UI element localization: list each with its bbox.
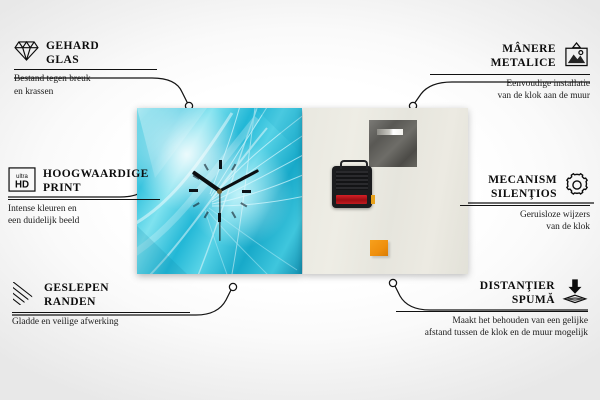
ultra-hd-icon-bottom: HD bbox=[15, 179, 29, 190]
ultra-hd-icon: ultra HD bbox=[8, 167, 36, 197]
callout-hoogwaardige-print: ultra HD HOOGWAARDIGE PRINT Intense kleu… bbox=[8, 167, 178, 228]
callout-rule bbox=[460, 205, 590, 206]
product-photo bbox=[137, 108, 468, 274]
callout-title-line2: SPUMĂ bbox=[512, 294, 555, 306]
foam-spacer bbox=[370, 240, 388, 256]
clock-back-panel bbox=[303, 108, 468, 274]
callout-title-line1: HOOGWAARDIGE bbox=[43, 168, 149, 180]
endpoint-geslepen-randen bbox=[229, 283, 236, 290]
callout-description: Intense kleuren en een duidelijk beeld bbox=[8, 203, 178, 228]
callout-description: Geruisloze wijzers van de klok bbox=[460, 209, 590, 234]
callout-desc-line1: Intense kleuren en bbox=[8, 204, 77, 214]
callout-header: MÂNERE METALICE bbox=[430, 42, 590, 72]
battery-terminal bbox=[371, 195, 375, 204]
callout-desc-line2: en krassen bbox=[14, 87, 53, 97]
callout-rule bbox=[430, 74, 590, 75]
callout-geslepen-randen: GESLEPEN RANDEN Gladde en veilige afwerk… bbox=[12, 282, 202, 328]
callout-title-line1: DISTANŢIER bbox=[480, 280, 555, 292]
clock-second-hand bbox=[219, 191, 220, 241]
callout-title-line2: PRINT bbox=[43, 182, 81, 194]
callout-description: Bestand tegen breuk en krassen bbox=[14, 73, 174, 98]
metal-hanger bbox=[369, 120, 417, 167]
callout-title-line2: SILENŢIOS bbox=[491, 188, 557, 200]
movement-grille bbox=[336, 171, 368, 190]
callout-desc-line1: Bestand tegen breuk bbox=[14, 74, 91, 84]
callout-title-line1: MECANISM bbox=[488, 174, 557, 186]
callout-desc-line2: van de klok bbox=[546, 222, 590, 232]
callout-title-line2: RANDEN bbox=[44, 296, 96, 308]
callout-header: MECANISM SILENŢIOS bbox=[460, 172, 590, 203]
hanging-picture-icon bbox=[563, 42, 590, 72]
callout-desc-line2: van de klok aan de muur bbox=[498, 91, 590, 101]
callout-header: DISTANŢIER SPUMĂ bbox=[396, 278, 588, 309]
hanger-slot bbox=[377, 129, 403, 135]
callout-header: ultra HD HOOGWAARDIGE PRINT bbox=[8, 167, 178, 197]
callout-description: Eenvoudige installatie van de klok aan d… bbox=[430, 78, 590, 103]
diamond-icon bbox=[14, 40, 39, 67]
movement-bracket bbox=[340, 160, 368, 169]
gear-icon bbox=[564, 172, 590, 203]
callout-desc-line2: een duidelijk beeld bbox=[8, 216, 79, 226]
callout-description: Maakt het behouden van een gelijke afsta… bbox=[396, 315, 588, 340]
clock-center-pin bbox=[217, 189, 222, 194]
callout-desc-line1: Geruisloze wijzers bbox=[520, 210, 590, 220]
down-arrow-pad-icon bbox=[562, 278, 588, 309]
callout-desc-line1: Eenvoudige installatie bbox=[506, 79, 590, 89]
callout-description: Gladde en veilige afwerking bbox=[12, 316, 202, 328]
callout-header: GEHARD GLAS bbox=[14, 40, 174, 67]
callout-title-line2: METALICE bbox=[491, 57, 556, 69]
callout-desc-line2: afstand tussen de klok en de muur mogeli… bbox=[425, 328, 588, 338]
battery bbox=[336, 195, 367, 204]
callout-mecanism-silentios: MECANISM SILENŢIOS Geruisloze wijzers va… bbox=[460, 172, 590, 234]
callout-rule bbox=[14, 69, 157, 70]
callout-title-line1: GESLEPEN bbox=[44, 282, 109, 294]
infographic-canvas: GEHARD GLAS Bestand tegen breuk en krass… bbox=[0, 0, 600, 400]
callout-desc-line1: Gladde en veilige afwerking bbox=[12, 317, 118, 327]
callout-desc-line1: Maakt het behouden van een gelijke bbox=[452, 316, 588, 326]
callout-manere-metalice: MÂNERE METALICE Eenvoudige installatie v… bbox=[430, 42, 590, 103]
quartz-movement bbox=[332, 166, 372, 208]
callout-rule bbox=[12, 312, 190, 313]
callout-title-line1: MÂNERE bbox=[502, 43, 556, 55]
diagonal-lines-icon bbox=[12, 282, 37, 310]
callout-header: GESLEPEN RANDEN bbox=[12, 282, 202, 310]
callout-title-line1: GEHARD bbox=[46, 40, 99, 52]
callout-title-line2: GLAS bbox=[46, 54, 79, 66]
callout-rule bbox=[8, 199, 160, 200]
callout-gehard-glas: GEHARD GLAS Bestand tegen breuk en krass… bbox=[14, 40, 174, 98]
callout-rule bbox=[396, 311, 588, 312]
callout-distantier-spuma: DISTANŢIER SPUMĂ Maakt het behouden van … bbox=[396, 278, 588, 340]
